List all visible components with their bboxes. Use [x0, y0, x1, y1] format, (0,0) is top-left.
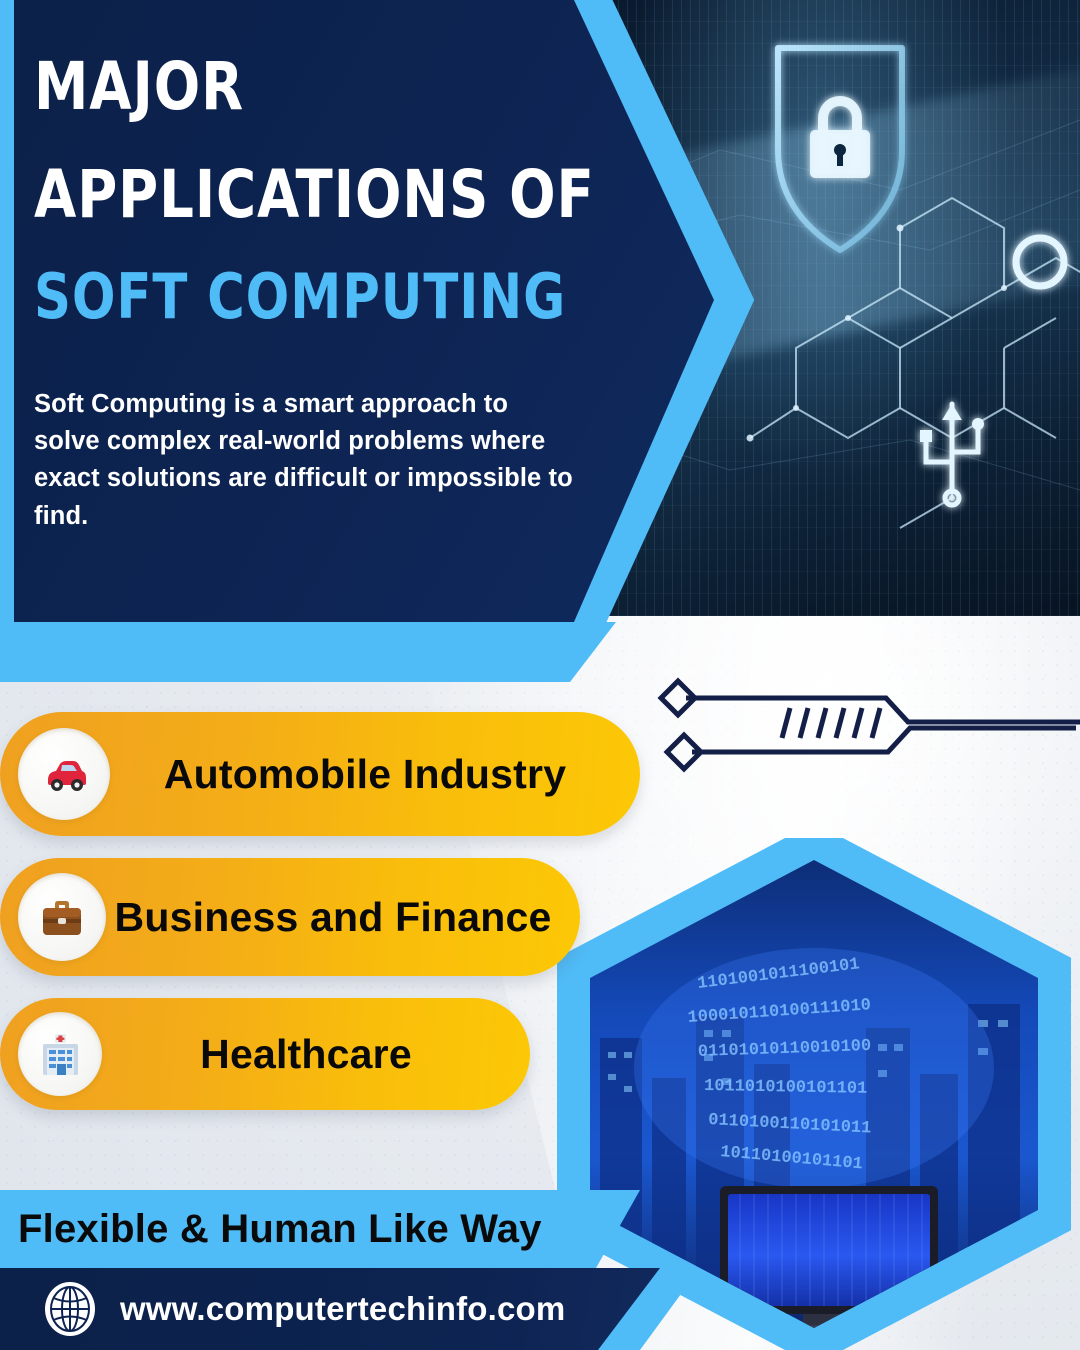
tagline-text: Flexible & Human Like Way	[0, 1207, 542, 1252]
usb-trident-icon	[920, 404, 984, 505]
car-icon	[36, 746, 92, 802]
applications-list: Automobile Industry Business and Finance	[0, 712, 700, 1132]
list-item[interactable]: Business and Finance	[0, 858, 580, 976]
website-url[interactable]: www.computertechinfo.com	[120, 1290, 565, 1328]
list-item-label: Healthcare	[102, 1030, 530, 1078]
title-line-3: SOFT COMPUTING	[34, 266, 660, 328]
circuit-line-decoration	[640, 660, 1080, 780]
hospital-icon	[34, 1028, 86, 1080]
list-item[interactable]: Healthcare	[0, 998, 530, 1110]
globe-icon	[42, 1281, 98, 1337]
title-line-1: MAJOR	[34, 54, 660, 120]
tagline-band: Flexible & Human Like Way	[0, 1190, 640, 1268]
list-item[interactable]: Automobile Industry	[0, 712, 640, 836]
infographic-poster: MAJOR APPLICATIONS OF SOFT COMPUTING Sof…	[0, 0, 1080, 1350]
description-text: Soft Computing is a smart approach to so…	[34, 386, 574, 535]
list-item-label: Business and Finance	[106, 893, 580, 941]
title-line-2: APPLICATIONS OF	[34, 162, 660, 228]
blue-divider-band	[0, 622, 616, 682]
badge-healthcare	[18, 1012, 102, 1096]
circle-node-icon	[1016, 238, 1064, 286]
badge-business	[18, 873, 106, 961]
header-content: MAJOR APPLICATIONS OF SOFT COMPUTING Sof…	[0, 0, 714, 622]
briefcase-icon	[35, 890, 89, 944]
list-item-label: Automobile Industry	[110, 750, 640, 798]
badge-automobile	[18, 728, 110, 820]
footer-bar: www.computertechinfo.com	[0, 1268, 660, 1350]
shield-lock-icon	[778, 48, 902, 250]
